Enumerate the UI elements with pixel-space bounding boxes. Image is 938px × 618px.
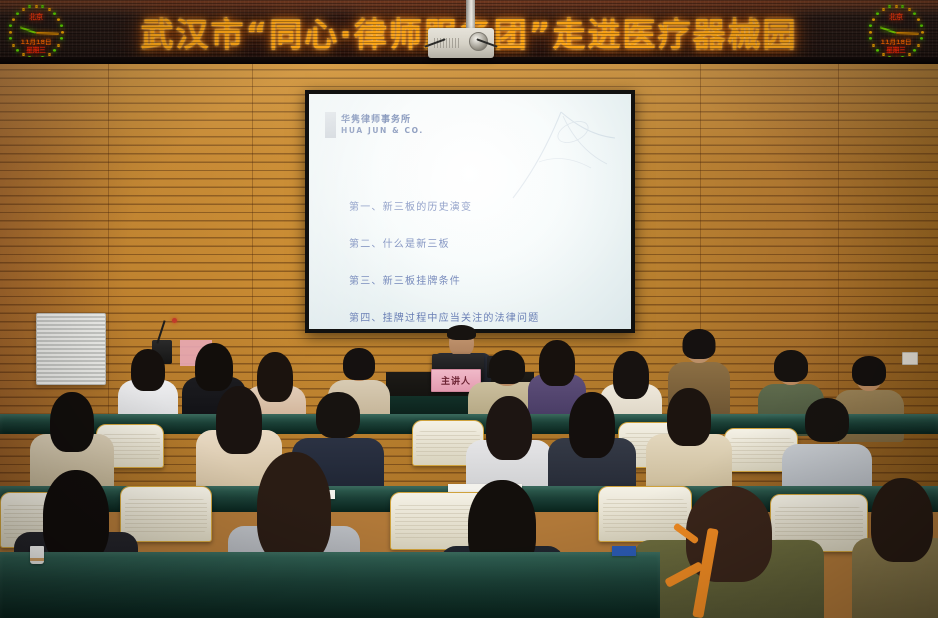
logo-seal-mark bbox=[325, 112, 336, 138]
clock-dial-pip bbox=[35, 5, 38, 8]
logo-english-name: HUA JUN & CO. bbox=[341, 126, 424, 135]
wall-socket bbox=[902, 352, 918, 365]
slide-agenda-list: 第一、新三板的历史演变 第二、什么是新三板 第三、新三板挂牌条件 第四、挂牌过程… bbox=[349, 198, 615, 324]
person-hair bbox=[131, 349, 165, 391]
clock-dial-pip bbox=[9, 24, 12, 27]
person-hair bbox=[50, 392, 94, 452]
clock-weekday-label: 星期三 bbox=[866, 46, 926, 54]
audience-member bbox=[852, 478, 938, 618]
clock-city-label: 北京 bbox=[6, 13, 66, 21]
clock-dial-pip bbox=[888, 56, 891, 59]
clock-dial-pip bbox=[901, 5, 904, 8]
slide-bullet: 第一、新三板的历史演变 bbox=[349, 198, 615, 213]
clock-dial-pip bbox=[908, 8, 911, 11]
clock-dial-pip bbox=[9, 31, 12, 34]
conference-photo: 武汉市“同心·律师服务团”走进医疗器械园 北京 11月18日 星期三 北京 11… bbox=[0, 0, 938, 618]
person-hair bbox=[871, 478, 933, 562]
led-clock-left: 北京 11月18日 星期三 bbox=[6, 4, 66, 60]
projection-screen-frame: 华隽律师事务所 HUA JUN & CO. 第一、新三板的历史演变 第二、什么是… bbox=[305, 90, 635, 333]
person-hair bbox=[257, 452, 331, 564]
projection-screen: 华隽律师事务所 HUA JUN & CO. 第一、新三板的历史演变 第二、什么是… bbox=[309, 94, 631, 329]
clock-dial-pip bbox=[28, 5, 31, 8]
slide-bullet: 第三、新三板挂牌条件 bbox=[349, 272, 615, 287]
logo-chinese-name: 华隽律师事务所 bbox=[341, 112, 424, 125]
person-hair bbox=[667, 388, 711, 446]
clock-dial-pip bbox=[895, 57, 898, 60]
person-hair bbox=[216, 386, 262, 454]
presenter-hair bbox=[447, 325, 476, 340]
projector-mount-pole bbox=[466, 0, 475, 30]
clock-date-label: 11月18日 bbox=[866, 38, 926, 46]
person-hair bbox=[539, 340, 575, 386]
person-hair bbox=[486, 396, 532, 460]
clock-city-label: 北京 bbox=[866, 13, 926, 21]
clock-dial-pip bbox=[869, 31, 872, 34]
nameplate-label: 主讲人 bbox=[441, 374, 471, 387]
clock-dial-pip bbox=[35, 57, 38, 60]
clock-dial-pip bbox=[895, 5, 898, 8]
led-clock-right: 北京 11月18日 星期三 bbox=[866, 4, 926, 60]
clock-dial-pip bbox=[41, 56, 44, 59]
clock-dial-pip bbox=[882, 8, 885, 11]
slide-bullet: 第四、挂牌过程中应当关注的法律问题 bbox=[349, 309, 615, 324]
person-hair bbox=[569, 392, 615, 458]
person-hair bbox=[489, 350, 525, 384]
microphone-head bbox=[172, 318, 177, 323]
clock-date-label: 11月18日 bbox=[6, 38, 66, 46]
slide-firm-logo: 华隽律师事务所 HUA JUN & CO. bbox=[325, 112, 424, 138]
clock-dial-pip bbox=[60, 24, 63, 27]
clock-dial-pip bbox=[901, 56, 904, 59]
person-hair bbox=[343, 348, 375, 380]
clock-dial-pip bbox=[28, 56, 31, 59]
slide-bullet: 第二、什么是新三板 bbox=[349, 235, 615, 250]
person-hair bbox=[316, 392, 360, 438]
clock-dial-pip bbox=[22, 8, 25, 11]
blue-item bbox=[612, 546, 636, 556]
foreground-table bbox=[0, 552, 660, 618]
clock-dial-pip bbox=[869, 24, 872, 27]
clock-dial-pip bbox=[48, 8, 51, 11]
clock-dial-pip bbox=[920, 24, 923, 27]
clock-dial-pip bbox=[921, 31, 924, 34]
person-hair bbox=[43, 470, 109, 564]
audience-member bbox=[646, 388, 732, 490]
air-conditioner-vent bbox=[36, 313, 106, 385]
audience-member bbox=[634, 486, 824, 618]
clock-dial-pip bbox=[61, 31, 64, 34]
person-hair bbox=[852, 356, 886, 386]
person-hair bbox=[683, 329, 716, 359]
clock-dial-pip bbox=[888, 5, 891, 8]
clock-weekday-label: 星期三 bbox=[6, 46, 66, 54]
person-hair bbox=[774, 350, 808, 382]
person-hair bbox=[805, 398, 849, 442]
clock-dial-pip bbox=[41, 5, 44, 8]
paper-cup bbox=[30, 546, 44, 564]
person-hair bbox=[195, 343, 233, 391]
audience-member bbox=[118, 350, 178, 420]
slide-watermark-artwork bbox=[503, 102, 623, 212]
